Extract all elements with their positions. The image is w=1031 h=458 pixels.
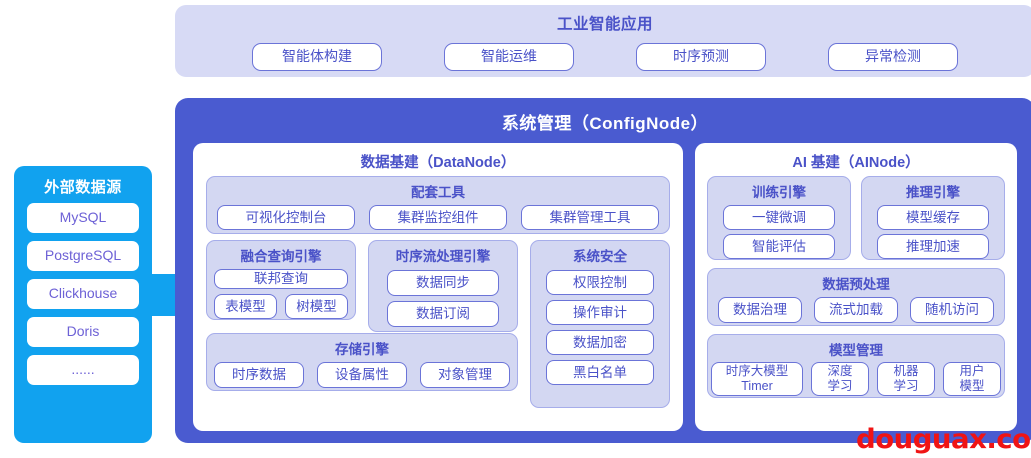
external-data-source-panel: 外部数据源 MySQL PostgreSQL Clickhouse Doris … [14,166,152,443]
storage-device-attributes[interactable]: 设备属性 [317,362,407,388]
app-item-anomaly-detection[interactable]: 异常检测 [828,43,958,71]
preprocess-data-governance[interactable]: 数据治理 [718,297,802,323]
model-user-model-line1: 用户 [959,364,984,379]
model-deep-learning-line1: 深度 [827,364,852,379]
data-source-more[interactable]: ...... [27,355,139,385]
group-stream-processing-engine-title: 时序流处理引擎 [369,245,517,265]
ai-node-title: AI 基建（AINode） [695,151,1017,172]
model-deep-learning-line2: 学习 [827,379,852,394]
fusion-model-items: 表模型 树模型 [214,294,348,319]
ai-node-panel: AI 基建（AINode） 训练引擎 一键微调 智能评估 推理引擎 模型缓存 推… [695,143,1017,431]
model-timer-foundation[interactable]: 时序大模型 Timer [711,362,803,396]
app-item-time-series-forecast[interactable]: 时序预测 [636,43,766,71]
inference-model-cache[interactable]: 模型缓存 [877,205,989,230]
app-item-smart-ops[interactable]: 智能运维 [444,43,574,71]
model-deep-learning[interactable]: 深度 学习 [811,362,869,396]
training-smart-evaluation[interactable]: 智能评估 [723,234,835,259]
app-item-agent-build[interactable]: 智能体构建 [252,43,382,71]
model-timer-line1: 时序大模型 [726,364,789,379]
group-supporting-tools: 配套工具 可视化控制台 集群监控组件 集群管理工具 [206,176,670,234]
model-user-model[interactable]: 用户 模型 [943,362,1001,396]
preprocess-streaming-load[interactable]: 流式加载 [814,297,898,323]
data-source-doris[interactable]: Doris [27,317,139,347]
top-band-items: 智能体构建 智能运维 时序预测 异常检测 [175,43,1031,71]
group-model-management-title: 模型管理 [708,339,1004,359]
data-source-postgresql[interactable]: PostgreSQL [27,241,139,271]
security-allow-deny-list[interactable]: 黑白名单 [546,360,654,385]
group-data-preprocessing-title: 数据预处理 [708,273,1004,293]
group-data-preprocessing: 数据预处理 数据治理 流式加载 随机访问 [707,268,1005,326]
model-user-model-line2: 模型 [959,379,984,394]
model-machine-learning[interactable]: 机器 学习 [877,362,935,396]
fusion-federated-query[interactable]: 联邦查询 [214,269,348,289]
group-model-management: 模型管理 时序大模型 Timer 深度 学习 机器 学习 用 [707,334,1005,398]
config-node-panel: 系统管理（ConfigNode） 数据基建（DataNode） 配套工具 可视化… [175,98,1031,443]
diagram-canvas: 工业智能应用 智能体构建 智能运维 时序预测 异常检测 外部数据源 MySQL … [0,0,1031,458]
inference-acceleration[interactable]: 推理加速 [877,234,989,259]
fusion-table-model[interactable]: 表模型 [214,294,277,319]
group-training-engine: 训练引擎 一键微调 智能评估 [707,176,851,260]
config-node-title: 系统管理（ConfigNode） [175,109,1031,134]
group-data-preprocessing-items: 数据治理 流式加载 随机访问 [718,297,994,323]
group-inference-engine-title: 推理引擎 [862,181,1004,201]
data-node-panel: 数据基建（DataNode） 配套工具 可视化控制台 集群监控组件 集群管理工具… [193,143,683,431]
group-training-engine-title: 训练引擎 [708,181,850,201]
preprocess-random-access[interactable]: 随机访问 [910,297,994,323]
security-access-control[interactable]: 权限控制 [546,270,654,295]
group-supporting-tools-items: 可视化控制台 集群监控组件 集群管理工具 [217,205,659,230]
model-machine-learning-line1: 机器 [893,364,918,379]
external-data-source-title: 外部数据源 [44,176,122,197]
tool-cluster-monitor[interactable]: 集群监控组件 [369,205,507,230]
group-storage-engine-title: 存储引擎 [207,338,517,358]
group-stream-processing-engine: 时序流处理引擎 数据同步 数据订阅 [368,240,518,332]
security-operation-audit[interactable]: 操作审计 [546,300,654,325]
data-source-mysql[interactable]: MySQL [27,203,139,233]
group-storage-engine-items: 时序数据 设备属性 对象管理 [214,362,510,388]
group-fusion-query-engine-title: 融合查询引擎 [207,245,355,265]
training-one-click-finetune[interactable]: 一键微调 [723,205,835,230]
stream-data-sync[interactable]: 数据同步 [387,270,499,296]
group-system-security: 系统安全 权限控制 操作审计 数据加密 黑白名单 [530,240,670,408]
group-model-management-items: 时序大模型 Timer 深度 学习 机器 学习 用户 模型 [711,362,1001,396]
model-machine-learning-line2: 学习 [893,379,918,394]
stream-data-subscription[interactable]: 数据订阅 [387,301,499,327]
data-source-clickhouse[interactable]: Clickhouse [27,279,139,309]
tool-cluster-manager[interactable]: 集群管理工具 [521,205,659,230]
group-inference-engine: 推理引擎 模型缓存 推理加速 [861,176,1005,260]
tool-visual-console[interactable]: 可视化控制台 [217,205,355,230]
model-timer-line2: Timer [741,379,772,394]
fusion-tree-model[interactable]: 树模型 [285,294,348,319]
group-fusion-query-engine: 融合查询引擎 联邦查询 表模型 树模型 [206,240,356,320]
group-system-security-title: 系统安全 [531,245,669,265]
watermark: douguax.com [856,424,1031,455]
data-node-title: 数据基建（DataNode） [193,151,683,172]
security-data-encryption[interactable]: 数据加密 [546,330,654,355]
storage-object-management[interactable]: 对象管理 [420,362,510,388]
group-storage-engine: 存储引擎 时序数据 设备属性 对象管理 [206,333,518,391]
storage-time-series-data[interactable]: 时序数据 [214,362,304,388]
industrial-ai-application-panel: 工业智能应用 智能体构建 智能运维 时序预测 异常检测 [175,5,1031,77]
group-supporting-tools-title: 配套工具 [207,181,669,201]
top-band-title: 工业智能应用 [175,12,1031,34]
